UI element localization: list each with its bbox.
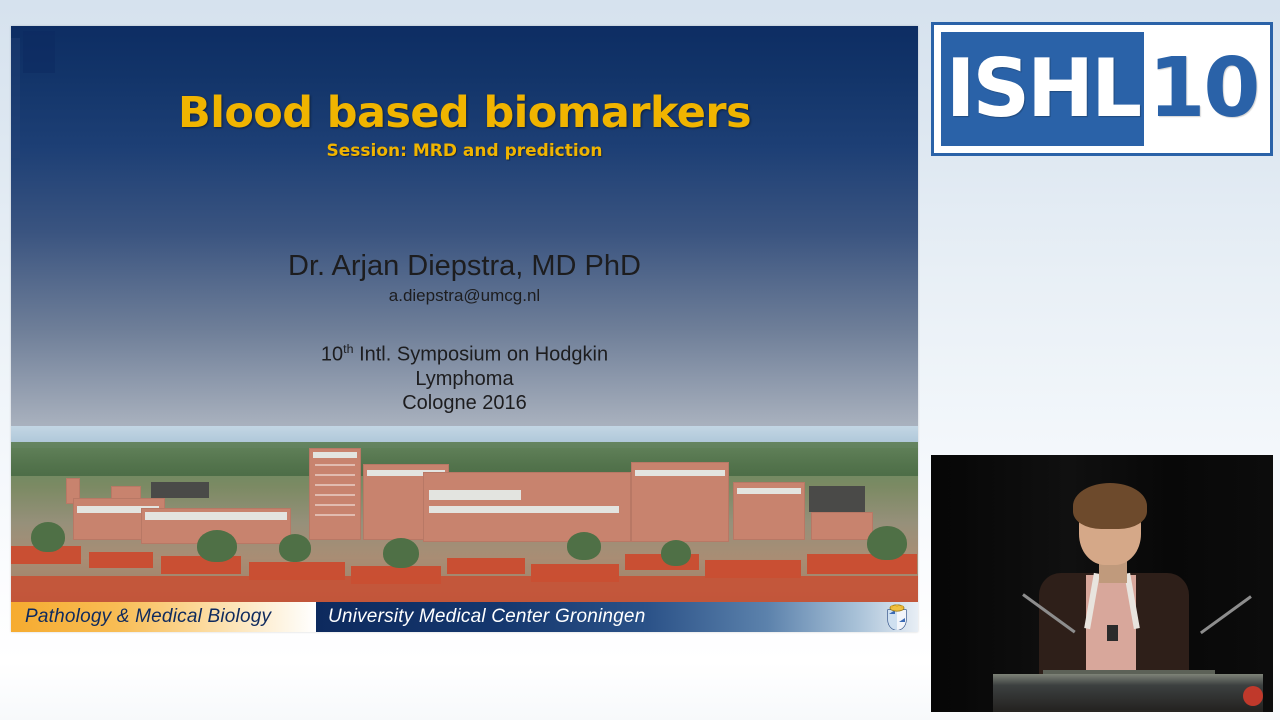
speaker-email: a.diepstra@umcg.nl: [11, 286, 918, 306]
lectern: [993, 674, 1263, 712]
institution-banner: Pathology & Medical Biology University M…: [11, 602, 918, 632]
presentation-slide[interactable]: Blood based biomarkers Session: MRD and …: [11, 26, 918, 632]
coat-of-arms-icon: [886, 604, 908, 630]
logo-acronym-block: ISHL: [941, 32, 1144, 146]
event-line-1: 10th Intl. Symposium on Hodgkin: [11, 342, 918, 367]
event-ordinal: th: [343, 342, 353, 356]
ishl-conference-logo: ISHL 10: [931, 22, 1273, 156]
speaker-name: Dr. Arjan Diepstra, MD PhD: [11, 250, 918, 283]
venue-logo-icon: [1243, 686, 1263, 706]
logo-inner: ISHL 10: [941, 32, 1263, 146]
logo-edition-text: 10: [1148, 48, 1258, 130]
event-number: 10: [321, 344, 343, 366]
slide-corner-accent-square: [23, 31, 55, 73]
speaker-video[interactable]: [931, 455, 1273, 712]
event-line-3: Cologne 2016: [11, 391, 918, 415]
logo-edition-block: 10: [1144, 32, 1263, 146]
event-details: 10th Intl. Symposium on Hodgkin Lymphoma…: [11, 342, 918, 415]
slide-title: Blood based biomarkers: [11, 88, 918, 138]
banner-institution: University Medical Center Groningen: [316, 602, 918, 632]
event-symposium-text: Intl. Symposium on Hodgkin: [354, 344, 609, 366]
banner-institution-label: University Medical Center Groningen: [316, 606, 645, 628]
banner-department: Pathology & Medical Biology: [11, 602, 316, 632]
aerial-cityscape-photo: [11, 426, 918, 602]
banner-department-label: Pathology & Medical Biology: [11, 606, 271, 628]
event-line-2: Lymphoma: [11, 367, 918, 391]
photo-treeline: [11, 442, 918, 476]
speaker-badge: [1107, 625, 1118, 641]
slide-subtitle: Session: MRD and prediction: [11, 141, 918, 161]
logo-acronym-text: ISHL: [946, 49, 1139, 129]
speaker-hair: [1073, 483, 1147, 529]
